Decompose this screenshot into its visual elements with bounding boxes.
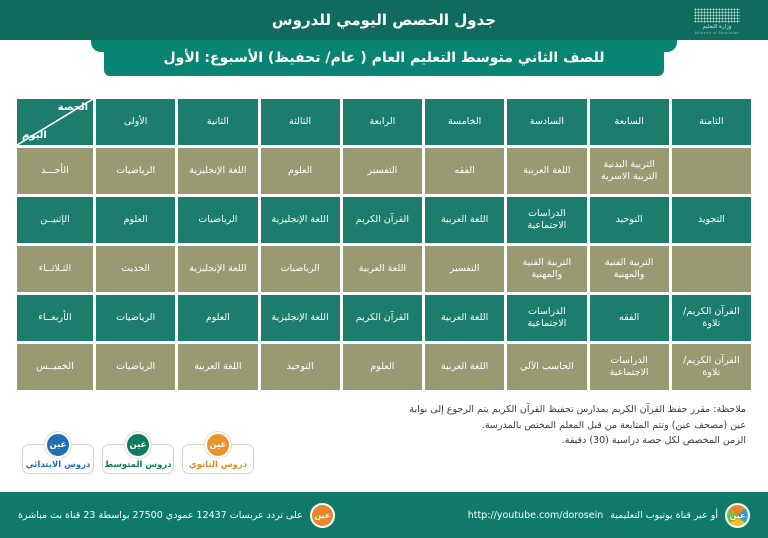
period-header-7: السابعة [590,99,669,145]
footer-satellite-text: على تردد عربسات 12437 عمودي 27500 بواسطة… [18,510,303,521]
schedule-table-body: التربية البدنيةالتربية الاسريةاللغة العر… [17,148,751,390]
corner-label-period: الحصة [58,102,88,115]
ribbon-banner: للصف الثاني متوسط التعليم العام ( عام/ ت… [104,40,664,76]
subject-cell-day2-period8: التجويد [672,197,751,243]
subject-cell-day1-period2: اللغة الإنجليزية [178,148,257,194]
ministry-name-arabic: وزارة التعليم [703,24,732,30]
ein-badge-label: دروس المتوسط [104,460,171,470]
ein-badge-3[interactable]: دروس الثانويعين [182,432,254,474]
table-row: القرآن الكريم/تلاوةالفقهالدراساتالاجتماع… [17,295,751,341]
day-name-cell: الأحـــد [17,148,93,194]
grade-week-subtitle: للصف الثاني متوسط التعليم العام ( عام/ ت… [163,50,604,66]
subject-cell-day5-period8: القرآن الكريم/تلاوة [672,344,751,390]
note-line-2: عين (مصحف عين) وتتم المتابعة من قبل المع… [326,418,746,434]
schedule-table: الثامنة السابعة السادسة الخامسة الرابعة … [14,96,754,393]
subject-cell-day5-period3: التوحيد [261,344,340,390]
ministry-of-education-logo: وزارة التعليم Ministry of Education [674,4,760,38]
subject-cell-day3-period1: الحديث [96,246,175,292]
subject-cell-day3-period2: اللغة الإنجليزية [178,246,257,292]
ein-lessons-badges: دروس الابتدائيعيندروس المتوسطعيندروس الث… [22,432,254,474]
period-header-4: الرابعة [343,99,422,145]
period-header-2: الثانية [178,99,257,145]
table-row: التجويدالتوحيدالدراساتالاجتماعيةاللغة ال… [17,197,751,243]
subject-cell-day1-period5: الفقه [425,148,504,194]
ein-badge-logo-icon: عين [205,432,231,458]
ein-badge-label: دروس الثانوي [189,460,247,470]
day-name-cell: الثـلاثــاء [17,246,93,292]
ministry-name-english: Ministry of Education [695,31,739,35]
subject-cell-day1-period1: الرياضيات [96,148,175,194]
subject-cell-day2-period1: العلوم [96,197,175,243]
note-line-3: الزمن المخصص لكل حصة دراسية (30) دقيقة. [326,433,746,449]
ein-badge-2[interactable]: دروس المتوسطعين [102,432,174,474]
footer-satellite-segment: عين على تردد عربسات 12437 عمودي 27500 بو… [18,503,335,528]
table-row: القرآن الكريم/تلاوةالدراساتالاجتماعيةالح… [17,344,751,390]
period-header-8: الثامنة [672,99,751,145]
footer-youtube-segment[interactable]: عين أو عبر قناة يوتيوب التعليمية http://… [468,503,750,528]
corner-label-day: اليوم [22,130,47,143]
ein-badge-logo-icon: عين [125,432,151,458]
subject-cell-day2-period5: اللغة العربية [425,197,504,243]
subject-cell-day3-period6: التربية الفنيةوالمهنية [507,246,586,292]
subject-cell-day1-period4: التفسير [343,148,422,194]
ministry-emblem-icon [694,8,740,23]
subject-cell-day4-period8: القرآن الكريم/تلاوة [672,295,751,341]
subject-cell-day2-period2: الرياضيات [178,197,257,243]
subject-cell-day4-period5: اللغة العربية [425,295,504,341]
corner-header-cell: الحصة اليوم [17,99,93,145]
footer-youtube-url[interactable]: http://youtube.com/dorosein [468,510,604,521]
ein-youtube-logo-icon: عين [725,503,750,528]
ein-badge-logo-icon: عين [45,432,71,458]
day-name-cell: الخميــس [17,344,93,390]
period-header-5: الخامسة [425,99,504,145]
day-name-cell: الأربعــاء [17,295,93,341]
ein-badge-label: دروس الابتدائي [26,460,91,470]
subject-cell-day2-period7: التوحيد [590,197,669,243]
subject-cell-day5-period5: اللغة العربية [425,344,504,390]
note-line-1: ملاحظة: مقرر حفظ القرآن الكريم بمدارس تح… [326,402,746,418]
footer-youtube-text: أو عبر قناة يوتيوب التعليمية [610,510,718,521]
period-header-6: السادسة [507,99,586,145]
subject-cell-day4-period3: اللغة الإنجليزية [261,295,340,341]
subject-cell-day2-period6: الدراساتالاجتماعية [507,197,586,243]
subject-cell-day2-period3: اللغة الإنجليزية [261,197,340,243]
subject-cell-day4-period4: القرآن الكريم [343,295,422,341]
subject-cell-day5-period7: الدراساتالاجتماعية [590,344,669,390]
day-name-cell: الإثنيــن [17,197,93,243]
period-header-1: الأولى [96,99,175,145]
note-paragraph: ملاحظة: مقرر حفظ القرآن الكريم بمدارس تح… [326,402,746,449]
ein-youtube-logo-text: عين [730,511,746,520]
period-header-3: الثالثة [261,99,340,145]
subject-cell-day5-period4: العلوم [343,344,422,390]
subject-cell-day5-period6: الحاسب الآلي [507,344,586,390]
subject-cell-day4-period7: الفقه [590,295,669,341]
ribbon-banner-wrap: للصف الثاني متوسط التعليم العام ( عام/ ت… [0,40,768,82]
top-header-bar: جدول الحصص اليومي للدروس وزارة التعليم M… [0,0,768,40]
table-row: التربية الفنيةوالمهنيةالتربية الفنيةوالم… [17,246,751,292]
subject-cell-day3-period3: الرياضيات [261,246,340,292]
subject-cell-day1-period7: التربية البدنيةالتربية الاسرية [590,148,669,194]
subject-cell-day3-period4: اللغة العربية [343,246,422,292]
subject-cell-day3-period7: التربية الفنيةوالمهنية [590,246,669,292]
subject-cell-day3-period5: التفسير [425,246,504,292]
subject-cell-day4-period6: الدراساتالاجتماعية [507,295,586,341]
schedule-table-container: الثامنة السابعة السادسة الخامسة الرابعة … [14,96,754,393]
subject-cell-day1-period6: اللغة العربية [507,148,586,194]
table-header-row: الثامنة السابعة السادسة الخامسة الرابعة … [17,99,751,145]
ein-satellite-logo-icon: عين [310,503,335,528]
subject-cell-day2-period4: القرآن الكريم [343,197,422,243]
page-title: جدول الحصص اليومي للدروس [272,11,496,29]
subject-cell-day4-period2: العلوم [178,295,257,341]
subject-cell-empty [672,246,751,292]
subject-cell-day5-period1: الرياضيات [96,344,175,390]
subject-cell-day4-period1: الرياضيات [96,295,175,341]
subject-cell-empty [672,148,751,194]
ein-satellite-logo-text: عين [314,511,330,520]
ein-badge-1[interactable]: دروس الابتدائيعين [22,432,94,474]
table-row: التربية البدنيةالتربية الاسريةاللغة العر… [17,148,751,194]
subject-cell-day5-period2: اللغة العربية [178,344,257,390]
footer-bar: عين أو عبر قناة يوتيوب التعليمية http://… [0,492,768,538]
subject-cell-day1-period3: العلوم [261,148,340,194]
